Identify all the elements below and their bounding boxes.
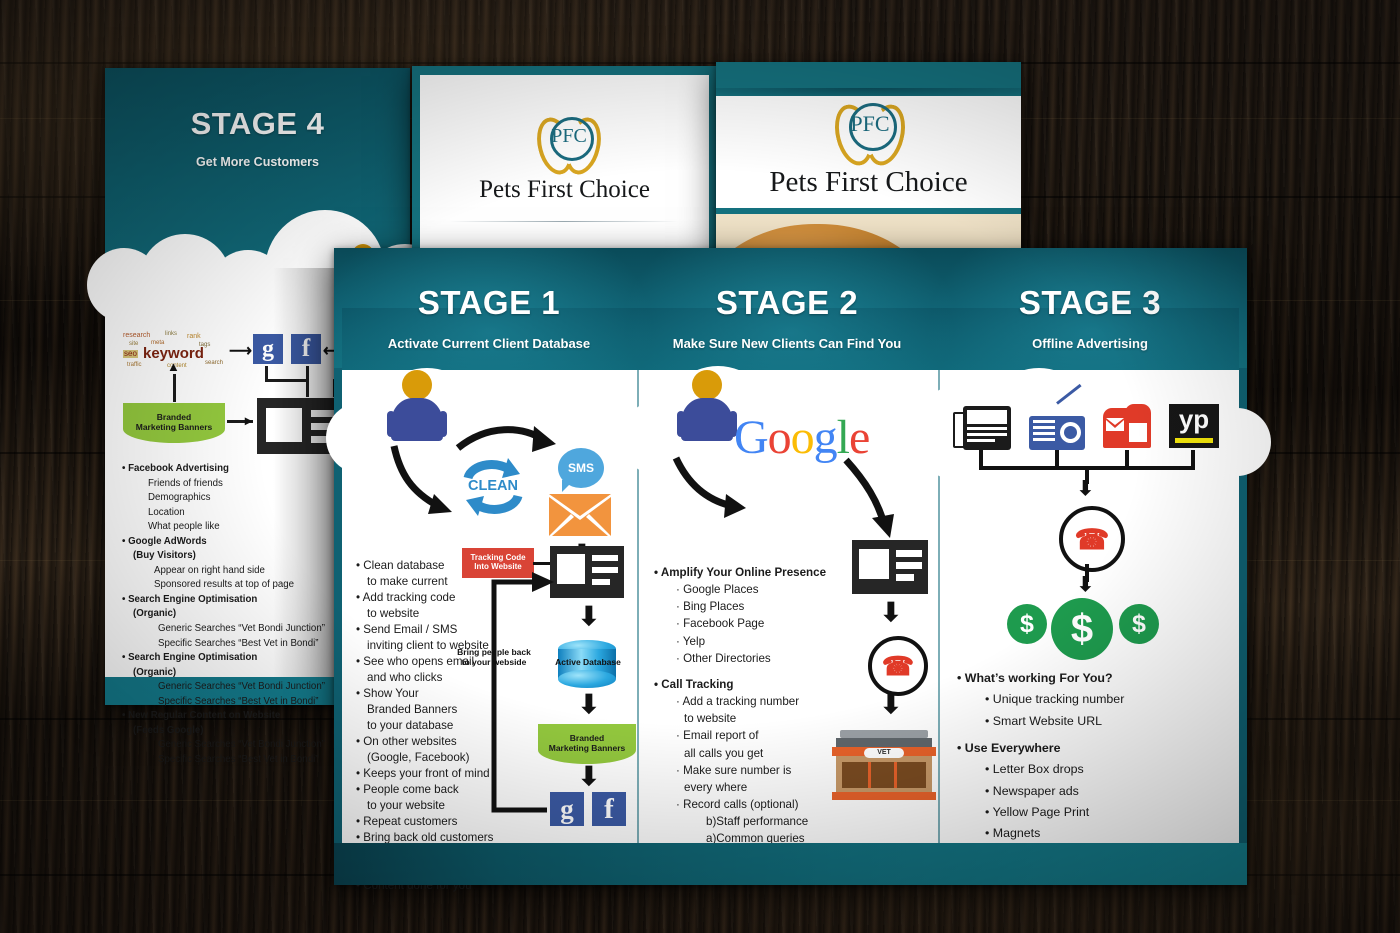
front-brochure[interactable]: STAGE 1 Activate Current Client Database [334,248,1247,885]
money-coin-right: $ [1119,604,1159,644]
bullet: to your website [356,798,546,814]
stage2-title: STAGE 2 [640,284,934,322]
panel-stage1[interactable]: STAGE 1 Activate Current Client Database [342,258,636,855]
stage2-subtitle: Make Sure New Clients Can Find You [640,336,934,351]
bullet: to website [356,606,546,622]
panel-stage3[interactable]: STAGE 3 Offline Advertising [941,258,1239,855]
bullet: · Yelp [654,633,834,650]
front-brochure-footer [334,843,1247,885]
divider [450,221,678,222]
bullet: (Google, Facebook) [356,750,546,766]
bullet: · Other Directories [654,650,834,667]
bullet: • Show Your [356,686,546,702]
stage2-phone-icon: ☎ [868,636,928,696]
newspaper-icon [953,406,1011,450]
arrow-down-5: ⬇ [880,598,902,628]
bullet: • Call Tracking [654,676,834,693]
bullet: • Smart Website URL [957,711,1207,732]
stage3-title: STAGE 3 [941,284,1239,322]
bullet: • Use Everywhere [957,732,1207,759]
logo-monogram: PFC [550,117,588,155]
stage1-subtitle: Activate Current Client Database [342,336,636,351]
bullet: · Bing Places [654,598,834,615]
bullet: • Clean database [356,558,546,574]
bullet: and who clicks [356,670,546,686]
stage4-branded-banners-tag: Branded Marketing Banners [123,403,225,443]
stage2-vet-shop-icon: VET [832,730,936,800]
brand-logo: PFC [538,111,600,173]
bullet: • Unique tracking number [957,689,1207,710]
bullet: to make current [356,574,546,590]
bullet: · Make sure number is [654,762,834,779]
bullet: every where [654,779,834,796]
stage3-bullet-list: • What’s working For You? • Unique track… [957,668,1207,866]
bullet: · Facebook Page [654,615,834,632]
bullet: • People come back [356,782,546,798]
cover-brand-wordmark: Pets First Choice [716,166,1021,199]
stage1-clean-cycle: CLEAN [462,456,524,516]
stage4-google-icon: g [253,334,283,364]
panel-stage2[interactable]: STAGE 2 Make Sure New Clients Can Find Y… [640,258,934,855]
stage4-title: STAGE 4 [105,106,410,142]
arrow-down-6: ⬇ [880,690,902,720]
bullet: • Yellow Page Print [957,802,1207,823]
bullet: · Email report of [654,727,834,744]
bullet: to your database [356,718,546,734]
bullet: • On other websites [356,734,546,750]
cover-brand-logo: PFC [836,98,904,166]
bullet: • Add tracking code [356,590,546,606]
cover-arc [716,88,1021,96]
stage3-phone-icon: ☎ [1059,506,1125,572]
stage4-facebook-icon: f [291,334,321,364]
stage4-subtitle: Get More Customers [105,155,410,169]
spacer [654,667,834,676]
arrow-down-7: ⬇ [1077,478,1094,501]
money-coin-left: $ [1007,604,1047,644]
yp-label: yp [1179,404,1209,434]
arrow-right-1: ⟶ [229,343,252,361]
brochure-mockup-scene: STAGE 4 Get More Customers research link… [0,0,1400,933]
bullet: • Repeat customers [356,814,546,830]
bullet: • Amplify Your Online Presence [654,564,834,581]
stage2-bullet-list: • Amplify Your Online Presence · Google … [654,564,834,865]
bullet: • See who opens email [356,654,546,670]
bullet: • What’s working For You? [957,668,1207,689]
bullet: Branded Banners [356,702,546,718]
stage2-bullets: • Amplify Your Online Presence · Google … [654,564,834,865]
brand-wordmark: Pets First Choice [412,176,717,204]
money-coin-center: $ [1051,598,1113,660]
bullet: • Magnets [957,823,1207,844]
stage2-person-icon [676,370,738,442]
bullet: • Letter Box drops [957,759,1207,780]
bullet: b)Staff performance [654,813,834,830]
bullet: · Record calls (optional) [654,796,834,813]
arrow-right-2: ▸ [245,412,252,428]
clean-label: CLEAN [464,478,522,494]
bullet: inviting client to website [356,638,546,654]
cover-logo-monogram: PFC [849,103,891,145]
bullet: all calls you get [654,745,834,762]
stage3-subtitle: Offline Advertising [941,336,1239,351]
stage1-title: STAGE 1 [342,284,636,322]
stage1-email-icon [549,494,611,536]
sms-tail [562,480,574,492]
bullet: to website [654,710,834,727]
yellowpages-icon: yp [1169,404,1219,448]
vet-sign: VET [864,748,904,758]
arrow-down-8: ⬇ [1077,574,1094,597]
bullet: · Add a tracking number [654,693,834,710]
bullet: · Google Places [654,581,834,598]
banner-label-2: Marketing Banners [136,423,213,433]
bullet: • Send Email / SMS [356,622,546,638]
bullet: • Newspaper ads [957,781,1207,802]
arrow-up-1: ▲ [167,360,180,375]
radio-icon [1029,402,1085,450]
bullet: • Keeps your front of mind [356,766,546,782]
stage2-website-icon [852,540,928,594]
mailbox-icon [1103,404,1151,450]
stage3-bullets: • What’s working For You? • Unique track… [957,668,1207,866]
